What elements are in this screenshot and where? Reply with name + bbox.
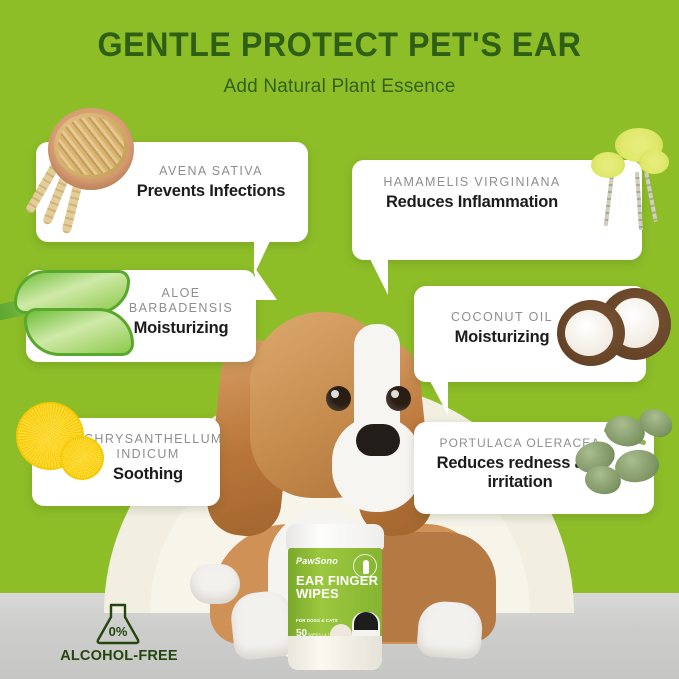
coconut-halves-icon: [555, 284, 671, 376]
alcohol-free-badge: 0% ALCOHOL-FREE: [44, 602, 194, 674]
dog-ear-seal-icon: [353, 554, 377, 578]
zero-percent-text: 0%: [92, 624, 144, 639]
oat-grains-bowl-icon: [34, 108, 142, 216]
ingredient-latin-name: COCONUT OIL: [428, 310, 576, 325]
dog-eye-left: [326, 386, 351, 411]
speech-tail: [255, 268, 277, 300]
speech-tail: [370, 259, 388, 295]
dandelion-flower-icon: [6, 398, 110, 490]
dog-eye-right: [386, 386, 411, 411]
ingredient-latin-name: AVENA SATIVA: [122, 164, 300, 179]
ingredient-benefit: Moisturizing: [114, 319, 248, 338]
product-jar: PawSono EAR FINGER WIPES FOR DOGS & CATS…: [286, 524, 384, 672]
dog-paw: [416, 600, 484, 660]
speech-tail: [430, 381, 448, 415]
dog-paw: [190, 564, 240, 604]
brand-name: PawSono: [296, 556, 338, 566]
ingredient-benefit: Moisturizing: [428, 328, 576, 347]
aloe-vera-slices-icon: [0, 268, 130, 360]
alcohol-free-label: ALCOHOL-FREE: [44, 648, 194, 664]
ingredient-benefit: Prevents Infections: [122, 182, 300, 201]
dog-nose: [356, 424, 400, 456]
product-name: EAR FINGER WIPES: [296, 574, 382, 600]
ingredient-latin-name: HAMAMELIS VIRGINIANA: [366, 175, 578, 190]
ingredient-benefit: Reduces Inflammation: [366, 193, 578, 212]
page-subtitle: Add Natural Plant Essence: [0, 76, 679, 98]
witch-hazel-flower-icon: [563, 126, 671, 242]
jar-lid: [286, 524, 384, 550]
for-pets-text: FOR DOGS & CATS: [296, 618, 338, 623]
ingredient-latin-name: ALOE BARBADENSIS: [114, 286, 248, 316]
flask-icon: 0%: [92, 602, 144, 646]
purslane-leaves-icon: [565, 404, 677, 500]
page-title: GENTLE PROTECT PET'S EAR: [17, 26, 662, 65]
infographic-canvas: GENTLE PROTECT PET'S EAR Add Natural Pla…: [0, 0, 679, 679]
jar-base: [288, 636, 382, 670]
dog-head: [250, 312, 396, 498]
